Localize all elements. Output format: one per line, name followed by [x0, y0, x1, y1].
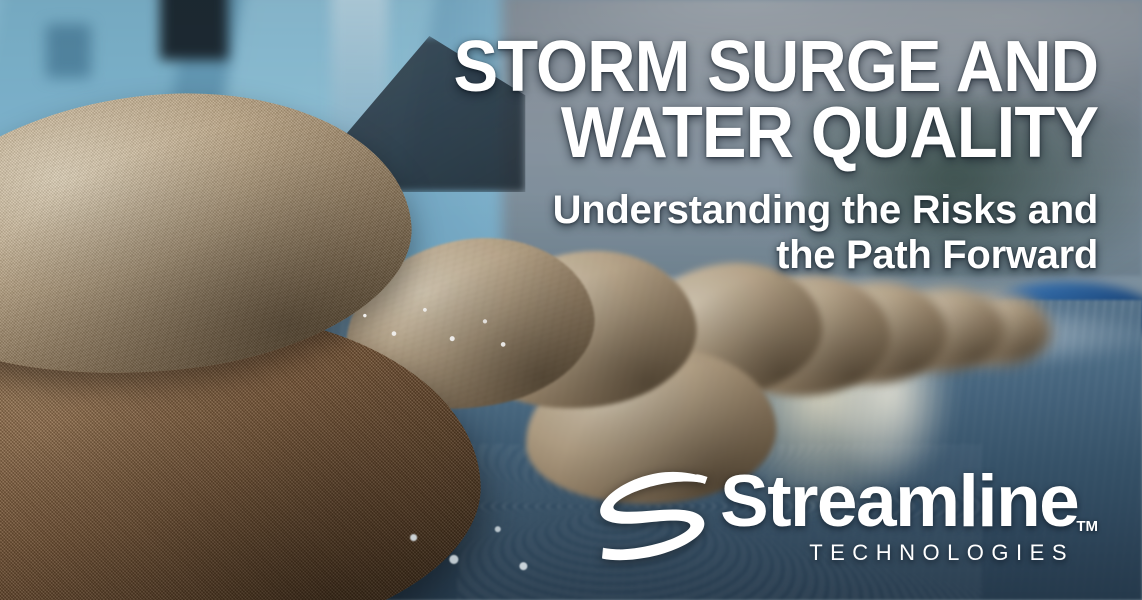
subtitle-line-2: the Path Forward — [553, 233, 1098, 278]
logo-text-block: Streamline TM TECHNOLOGIES — [720, 466, 1096, 566]
logo-tagline: TECHNOLOGIES — [720, 540, 1096, 566]
house-dark-post — [160, 0, 229, 60]
logo-wordmark: Streamline — [720, 466, 1096, 538]
headline-line-1: STORM SURGE AND — [453, 34, 1098, 100]
trademark-symbol: TM — [1076, 518, 1098, 535]
headline-block: STORM SURGE AND WATER QUALITY — [405, 34, 1098, 166]
streamline-logo[interactable]: Streamline TM TECHNOLOGIES — [596, 466, 1096, 570]
hero-banner: STORM SURGE AND WATER QUALITY Understand… — [0, 0, 1142, 600]
subtitle-block: Understanding the Risks and the Path For… — [553, 188, 1098, 278]
house-window — [46, 24, 92, 78]
streamline-s-brushstroke-icon — [596, 468, 714, 568]
water-splash — [377, 504, 560, 588]
water-droplets — [343, 294, 526, 366]
headline-line-2: WATER QUALITY — [453, 100, 1098, 166]
subtitle-line-1: Understanding the Risks and — [553, 188, 1098, 233]
